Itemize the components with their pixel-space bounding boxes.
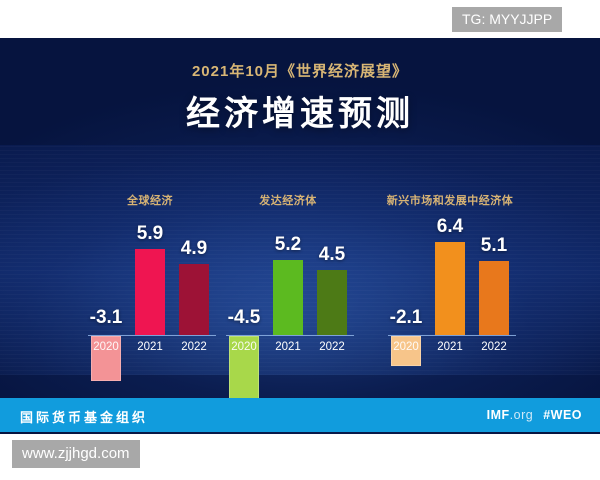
chart-group-label: 全球经济 (127, 192, 173, 208)
slide-subtitle: 2021年10月《世界经济展望》 (0, 60, 600, 81)
chart-year-label: 2021 (437, 341, 463, 353)
watermark-top-right: TG: MYYJJPP (452, 7, 562, 32)
footer-bar: 国际货币基金组织 IMF.org#WEO (0, 398, 600, 432)
weo-hashtag: #WEO (543, 408, 582, 422)
slide-title: 经济增速预测 (0, 86, 600, 135)
chart-group-label: 新兴市场和发展中经济体 (387, 192, 514, 208)
chart-bar (135, 249, 165, 335)
chart-year-label: 2021 (137, 341, 163, 353)
chart-value-label: -2.1 (390, 307, 423, 329)
footer-organization-name: 国际货币基金组织 (20, 407, 148, 426)
chart-value-label: 5.2 (275, 234, 301, 256)
slide-image: 2021年10月《世界经济展望》 经济增速预测 全球经济-3.120205.92… (0, 38, 600, 434)
chart-year-label: 2021 (275, 341, 301, 353)
imf-org-suffix: .org (510, 408, 534, 422)
bar-chart: 全球经济-3.120205.920214.92022发达经济体-4.520205… (0, 145, 600, 375)
chart-value-label: 5.9 (137, 223, 163, 245)
chart-year-label: 2020 (231, 341, 257, 353)
chart-bar (317, 270, 347, 335)
chart-value-label: 5.1 (481, 235, 507, 257)
chart-bar (479, 261, 509, 335)
chart-bar (179, 264, 209, 335)
chart-value-label: -3.1 (90, 307, 123, 329)
chart-year-label: 2022 (319, 341, 345, 353)
footer-links: IMF.org#WEO (487, 408, 582, 422)
chart-value-label: -4.5 (228, 307, 261, 329)
watermark-bottom-left: www.zjjhgd.com (12, 440, 140, 468)
chart-year-label: 2020 (393, 341, 419, 353)
chart-value-label: 4.5 (319, 244, 345, 266)
chart-value-label: 4.9 (181, 238, 207, 260)
chart-year-label: 2022 (181, 341, 207, 353)
chart-year-label: 2022 (481, 341, 507, 353)
chart-bar (435, 242, 465, 335)
chart-value-label: 6.4 (437, 216, 463, 238)
chart-bar (273, 260, 303, 335)
chart-group-label: 发达经济体 (259, 192, 317, 208)
chart-panel: 全球经济-3.120205.920214.92022发达经济体-4.520205… (0, 145, 600, 375)
imf-org-label: IMF (487, 408, 510, 422)
chart-year-label: 2020 (93, 341, 119, 353)
